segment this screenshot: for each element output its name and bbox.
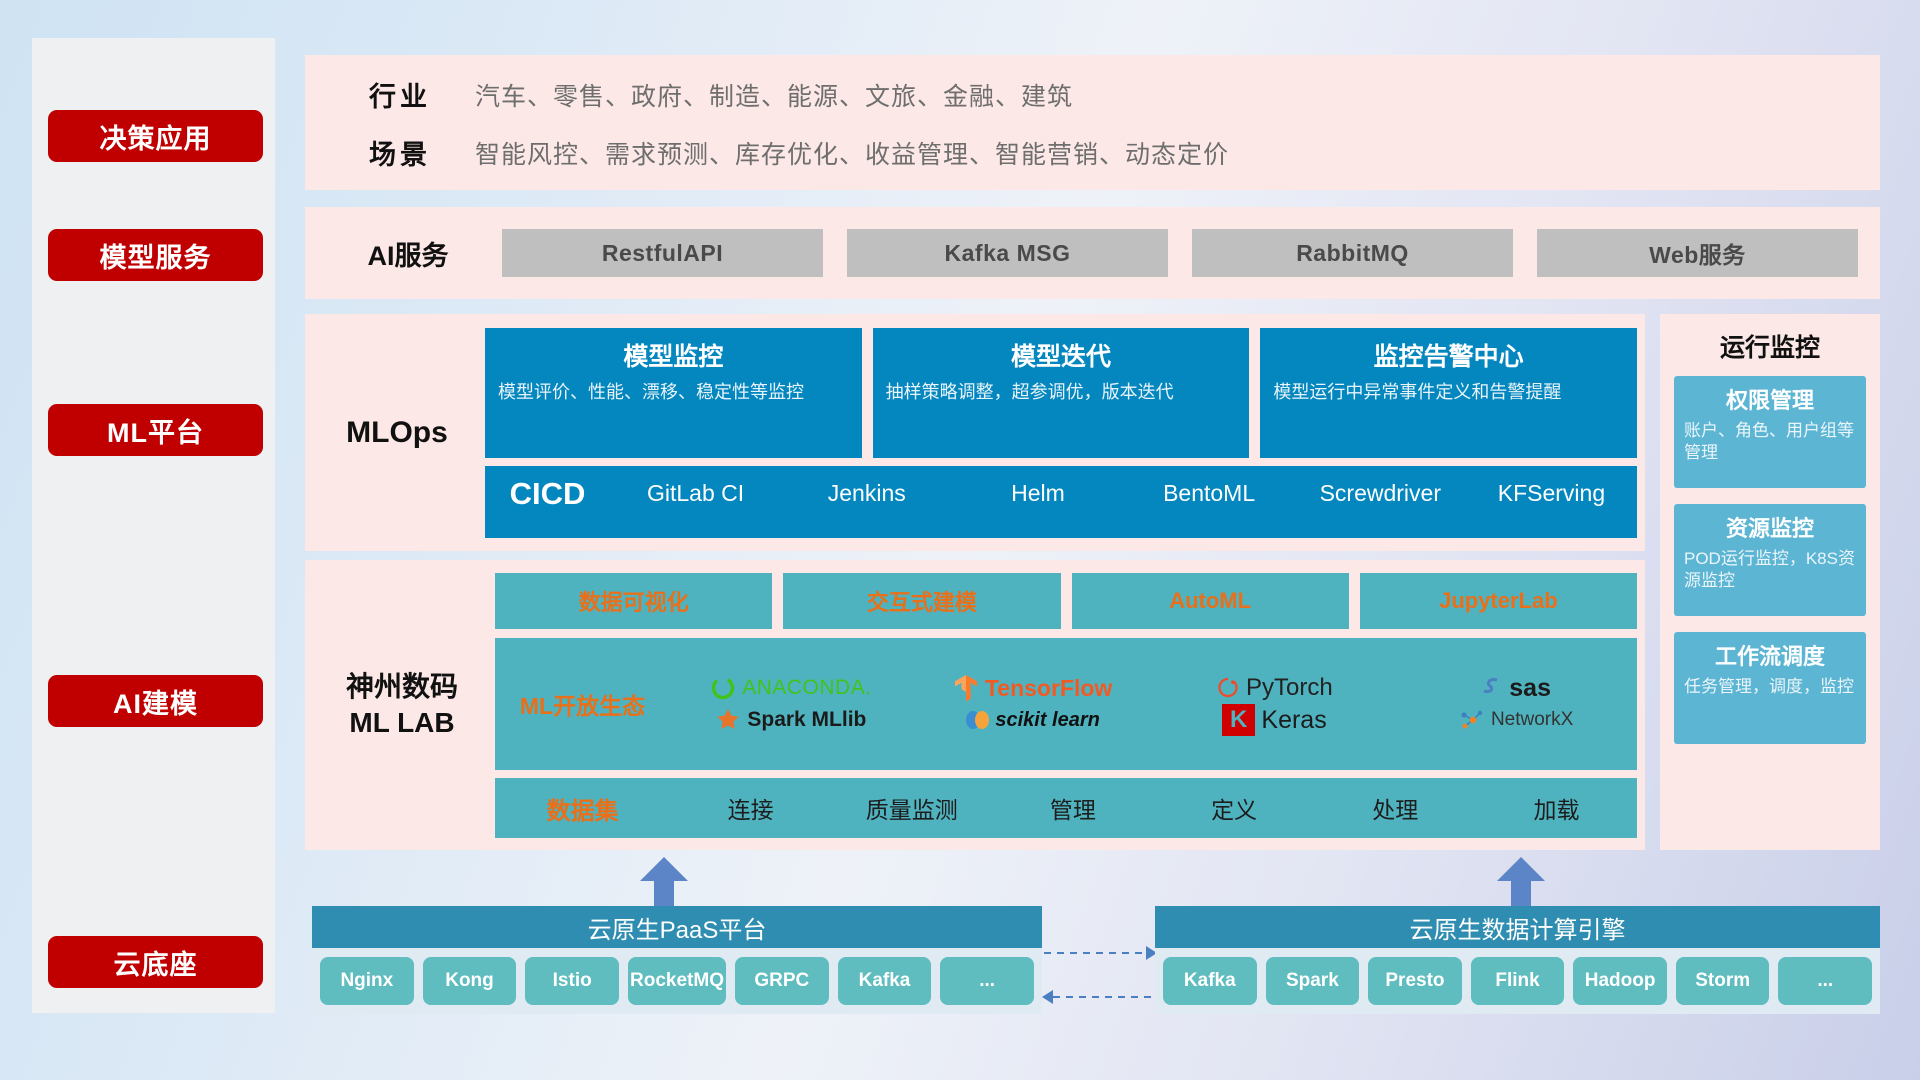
ml-tool-data-visualization[interactable]: 数据可视化 [495, 573, 772, 629]
ai-service-chip-rabbitmq[interactable]: RabbitMQ [1192, 229, 1513, 277]
networkx-label: NetworkX [1491, 709, 1573, 731]
card-title: 工作流调度 [1684, 639, 1856, 671]
mlops-card-list: 模型监控 模型评价、性能、漂移、稳定性等监控 模型迭代 抽样策略调整，超参调优，… [485, 328, 1637, 458]
layer-rail [32, 38, 275, 1013]
card-desc: 抽样策略调整，超参调优，版本迭代 [886, 381, 1237, 405]
engine-chip-spark[interactable]: Spark [1266, 957, 1360, 1005]
ml-lab-label-line2: ML LAB [349, 705, 454, 741]
keras-icon: K [1222, 704, 1255, 736]
ai-service-chip-list: RestfulAPI Kafka MSG RabbitMQ Web服务 [490, 207, 1870, 299]
keras-logo: K Keras [1222, 704, 1327, 736]
cloud-chip-more[interactable]: ... [940, 957, 1034, 1005]
pytorch-icon [1216, 675, 1240, 701]
engine-chip-more[interactable]: ... [1778, 957, 1872, 1005]
sas-label: sas [1509, 674, 1551, 703]
ml-ecosystem: ML开放生态 ANACONDA. TensorFlow [495, 638, 1637, 770]
layer-label: 决策应用 [100, 117, 212, 156]
cloud-paas-chip-list: Nginx Kong Istio RocketMQ GRPC Kafka ... [312, 948, 1042, 1014]
pytorch-logo: PyTorch [1216, 674, 1333, 702]
cloud-chip-kafka[interactable]: Kafka [838, 957, 932, 1005]
cloud-paas-title: 云原生PaaS平台 [312, 906, 1042, 948]
dataset-row: 数据集 连接 质量监测 管理 定义 处理 加载 [495, 778, 1637, 838]
mlops-label: MLOps [317, 314, 477, 551]
monitoring-band: 运行监控 权限管理 账户、角色、用户组等管理 资源监控 POD运行监控，K8S资… [1660, 314, 1880, 850]
spark-icon [715, 708, 741, 732]
ai-service-chip-kafka-msg[interactable]: Kafka MSG [847, 229, 1168, 277]
card-desc: 账户、角色、用户组等管理 [1684, 420, 1856, 464]
ml-tool-jupyterlab[interactable]: JupyterLab [1360, 573, 1637, 629]
card-desc: 任务管理，调度，监控 [1684, 676, 1856, 698]
sas-logo: sas [1481, 674, 1551, 703]
tensorflow-logo: TensorFlow [953, 674, 1112, 702]
engine-chip-presto[interactable]: Presto [1368, 957, 1462, 1005]
cicd-row: CICD GitLab CI Jenkins Helm BentoML Scre… [485, 466, 1637, 538]
anaconda-icon [710, 675, 736, 701]
cloud-engine-title: 云原生数据计算引擎 [1155, 906, 1880, 948]
sas-icon [1481, 676, 1503, 700]
layer-label: 云底座 [114, 943, 198, 982]
layer-pill-model-service[interactable]: 模型服务 [48, 229, 263, 281]
monitoring-title: 运行监控 [1660, 328, 1880, 364]
cloud-chip-rocketmq[interactable]: RocketMQ [628, 957, 726, 1005]
networkx-logo: NetworkX [1459, 708, 1573, 732]
card-title: 资源监控 [1684, 511, 1856, 543]
keras-label: Keras [1261, 706, 1326, 735]
cicd-tool-kfserving[interactable]: KFServing [1466, 476, 1637, 506]
scikit-learn-label: scikit learn [995, 709, 1100, 732]
card-title: 权限管理 [1684, 383, 1856, 415]
ml-lab-label: 神州数码 ML LAB [317, 560, 487, 850]
cloud-chip-istio[interactable]: Istio [525, 957, 619, 1005]
tensorflow-label: TensorFlow [985, 675, 1112, 702]
engine-chip-flink[interactable]: Flink [1471, 957, 1565, 1005]
mlops-card-model-iteration[interactable]: 模型迭代 抽样策略调整，超参调优，版本迭代 [873, 328, 1250, 458]
engine-chip-kafka[interactable]: Kafka [1163, 957, 1257, 1005]
scikit-learn-icon [965, 708, 989, 732]
cloud-chip-nginx[interactable]: Nginx [320, 957, 414, 1005]
layer-label: 模型服务 [100, 236, 212, 275]
industry-row: 行业 汽车、零售、政府、制造、能源、文旅、金融、建筑 [325, 75, 1073, 114]
engine-chip-storm[interactable]: Storm [1676, 957, 1770, 1005]
anaconda-label: ANACONDA. [742, 676, 871, 700]
layer-label: AI建模 [113, 682, 198, 721]
monitoring-card-resource[interactable]: 资源监控 POD运行监控，K8S资源监控 [1674, 504, 1866, 616]
scikit-learn-logo: scikit learn [965, 708, 1100, 732]
card-title: 监控告警中心 [1273, 337, 1624, 373]
ml-lab-band: 神州数码 ML LAB 数据可视化 交互式建模 AutoML JupyterLa… [305, 560, 1645, 850]
monitoring-card-permission[interactable]: 权限管理 账户、角色、用户组等管理 [1674, 376, 1866, 488]
ml-tool-interactive-modeling[interactable]: 交互式建模 [783, 573, 1060, 629]
layer-label: ML平台 [107, 411, 204, 450]
layer-pill-cloud-base[interactable]: 云底座 [48, 936, 263, 988]
ml-tool-automl[interactable]: AutoML [1072, 573, 1349, 629]
dataset-item-quality-monitoring[interactable]: 质量监测 [831, 791, 992, 825]
ml-lab-tool-strip: 数据可视化 交互式建模 AutoML JupyterLab [495, 573, 1637, 629]
ai-service-chip-restfulapi[interactable]: RestfulAPI [502, 229, 823, 277]
dataset-item-connect[interactable]: 连接 [670, 791, 831, 825]
card-desc: POD运行监控，K8S资源监控 [1684, 548, 1856, 592]
card-desc: 模型评价、性能、漂移、稳定性等监控 [498, 381, 849, 405]
architecture-diagram: 决策应用 模型服务 ML平台 AI建模 云底座 行业 汽车、零售、政府、制造、能… [0, 0, 1920, 1080]
card-desc: 模型运行中异常事件定义和告警提醒 [1273, 381, 1624, 405]
layer-pill-ml-platform[interactable]: ML平台 [48, 404, 263, 456]
cloud-paas-group: 云原生PaaS平台 Nginx Kong Istio RocketMQ GRPC… [312, 906, 1042, 1014]
scenario-row: 场景 智能风控、需求预测、库存优化、收益管理、智能营销、动态定价 [325, 133, 1229, 172]
mlops-band: MLOps 模型监控 模型评价、性能、漂移、稳定性等监控 模型迭代 抽样策略调整… [305, 314, 1645, 551]
anaconda-logo: ANACONDA. [710, 675, 871, 701]
monitoring-card-workflow[interactable]: 工作流调度 任务管理，调度，监控 [1674, 632, 1866, 744]
industry-values: 汽车、零售、政府、制造、能源、文旅、金融、建筑 [475, 77, 1073, 113]
applications-band: 行业 汽车、零售、政府、制造、能源、文旅、金融、建筑 场景 智能风控、需求预测、… [305, 55, 1880, 190]
ml-lab-label-line1: 神州数码 [346, 669, 458, 705]
ml-ecosystem-title: ML开放生态 [495, 687, 670, 721]
ai-service-label: AI服务 [333, 207, 483, 299]
dataset-item-loading[interactable]: 加载 [1476, 791, 1637, 825]
ml-ecosystem-logos: ANACONDA. TensorFlow PyTorch [670, 672, 1637, 736]
cloud-chip-grpc[interactable]: GRPC [735, 957, 829, 1005]
ai-service-chip-web[interactable]: Web服务 [1537, 229, 1858, 277]
cicd-tool-jenkins[interactable]: Jenkins [781, 476, 952, 506]
spark-mllib-logo: Spark MLlib [715, 708, 866, 732]
arrow-up-engine [1495, 855, 1547, 907]
spark-mllib-label: Spark MLlib [747, 708, 866, 732]
industry-label: 行业 [325, 75, 475, 114]
layer-pill-decision-app[interactable]: 决策应用 [48, 110, 263, 162]
scenario-label: 场景 [325, 133, 475, 172]
scenario-values: 智能风控、需求预测、库存优化、收益管理、智能营销、动态定价 [475, 135, 1229, 171]
cicd-tool-helm[interactable]: Helm [952, 476, 1123, 506]
cicd-tool-gitlab-ci[interactable]: GitLab CI [610, 476, 781, 506]
paas-engine-link [1042, 935, 1157, 1015]
tensorflow-icon [953, 674, 979, 702]
networkx-icon [1459, 708, 1485, 732]
cloud-chip-kong[interactable]: Kong [423, 957, 517, 1005]
cicd-tool-bentoml[interactable]: BentoML [1124, 476, 1295, 506]
mlops-card-alert-center[interactable]: 监控告警中心 模型运行中异常事件定义和告警提醒 [1260, 328, 1637, 458]
card-title: 模型监控 [498, 337, 849, 373]
ai-service-band: AI服务 RestfulAPI Kafka MSG RabbitMQ Web服务 [305, 207, 1880, 299]
engine-chip-hadoop[interactable]: Hadoop [1573, 957, 1667, 1005]
dataset-item-definition[interactable]: 定义 [1154, 791, 1315, 825]
dataset-tag: 数据集 [495, 791, 670, 826]
layer-pill-ai-modeling[interactable]: AI建模 [48, 675, 263, 727]
cloud-engine-group: 云原生数据计算引擎 Kafka Spark Presto Flink Hadoo… [1155, 906, 1880, 1014]
mlops-card-model-monitoring[interactable]: 模型监控 模型评价、性能、漂移、稳定性等监控 [485, 328, 862, 458]
cicd-tool-screwdriver[interactable]: Screwdriver [1295, 476, 1466, 506]
cloud-engine-chip-list: Kafka Spark Presto Flink Hadoop Storm ..… [1155, 948, 1880, 1014]
dataset-item-management[interactable]: 管理 [992, 791, 1153, 825]
cicd-tag: CICD [485, 476, 610, 512]
pytorch-label: PyTorch [1246, 674, 1333, 702]
card-title: 模型迭代 [886, 337, 1237, 373]
arrow-up-paas [638, 855, 690, 907]
dataset-item-processing[interactable]: 处理 [1315, 791, 1476, 825]
